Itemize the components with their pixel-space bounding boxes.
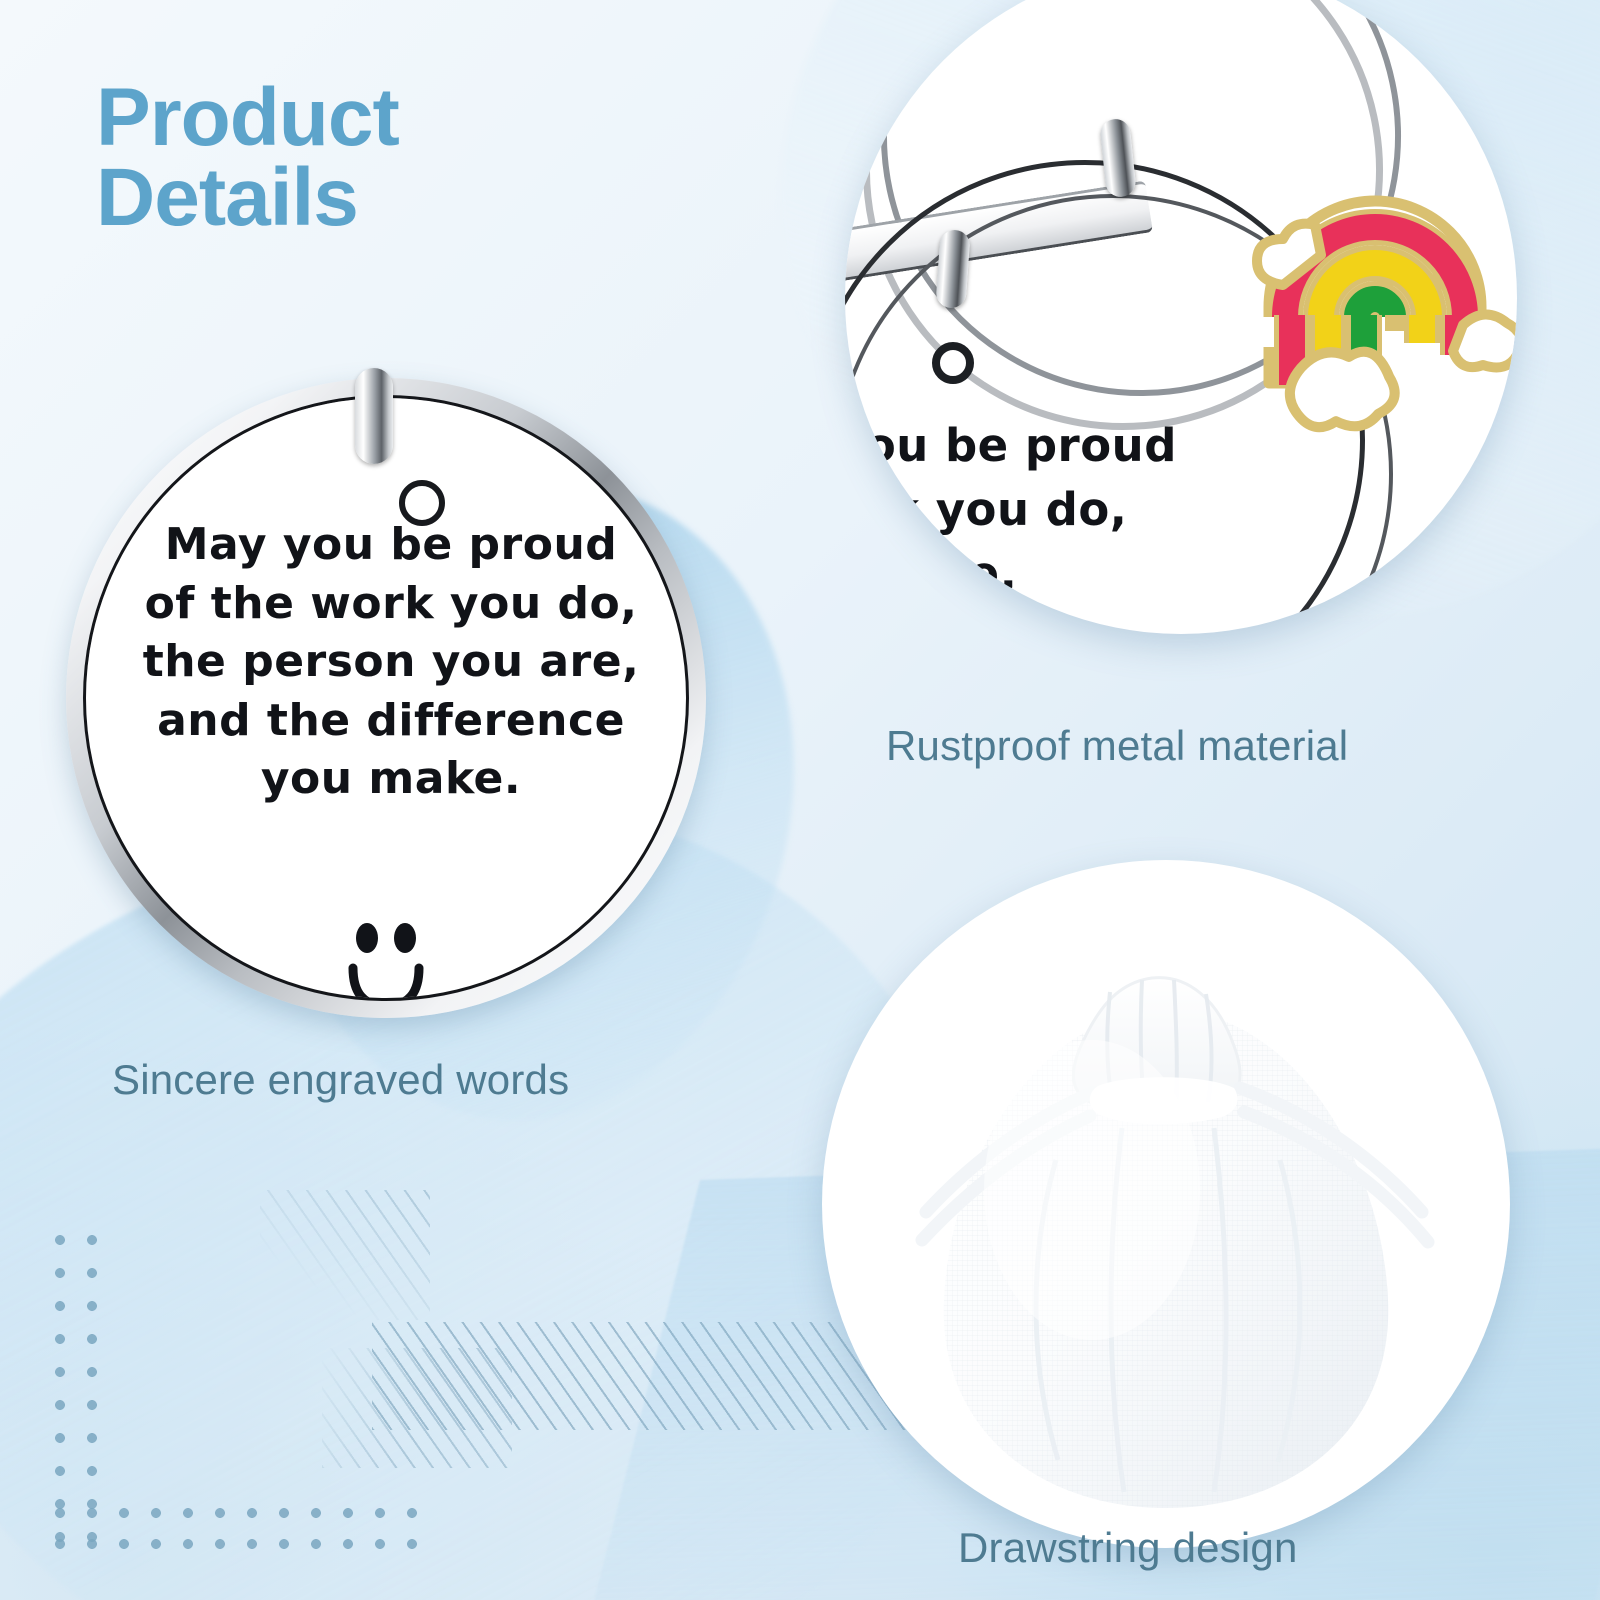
engraved-line-4: and the difference [136, 692, 646, 751]
inset-drawstring-bag [822, 860, 1510, 1548]
page-title: Product Details [96, 78, 716, 237]
engraved-line-1: May you be proud [136, 516, 646, 575]
hatch-accent-small [260, 1190, 430, 1320]
page-title-line-1: Product [96, 72, 399, 163]
product-details-infographic: Product Details May you be proud of the … [0, 0, 1600, 1600]
engraved-line-3: the person you are, [136, 633, 646, 692]
dot-grid-row [52, 1505, 432, 1567]
inset-partial-line-3: ou are, [845, 542, 1295, 606]
inset-partial-engraving: you be proud ork you do, ou are, [845, 414, 1295, 606]
caption-drawstring-design: Drawstring design [958, 1524, 1298, 1572]
jump-ring-left-icon [935, 229, 970, 309]
jump-ring-loop-icon [932, 342, 974, 384]
caption-engraved-words: Sincere engraved words [112, 1056, 569, 1104]
inset-partial-line-1: you be proud [845, 414, 1295, 478]
page-title-line-2: Details [96, 158, 716, 238]
engraved-line-2: of the work you do, [136, 575, 646, 634]
engraved-line-5: you make. [136, 750, 646, 809]
caption-rustproof-material: Rustproof metal material [886, 722, 1348, 770]
organza-pouch-icon [822, 860, 1510, 1548]
inset-partial-line-2: ork you do, [845, 478, 1295, 542]
engraved-quote: May you be proud of the work you do, the… [136, 516, 646, 809]
jump-ring-icon [355, 368, 393, 464]
disc-engraved-face: May you be proud of the work you do, the… [83, 395, 689, 1001]
keychain-disc: May you be proud of the work you do, the… [38, 338, 710, 1028]
smiley-face-icon [331, 918, 441, 1001]
